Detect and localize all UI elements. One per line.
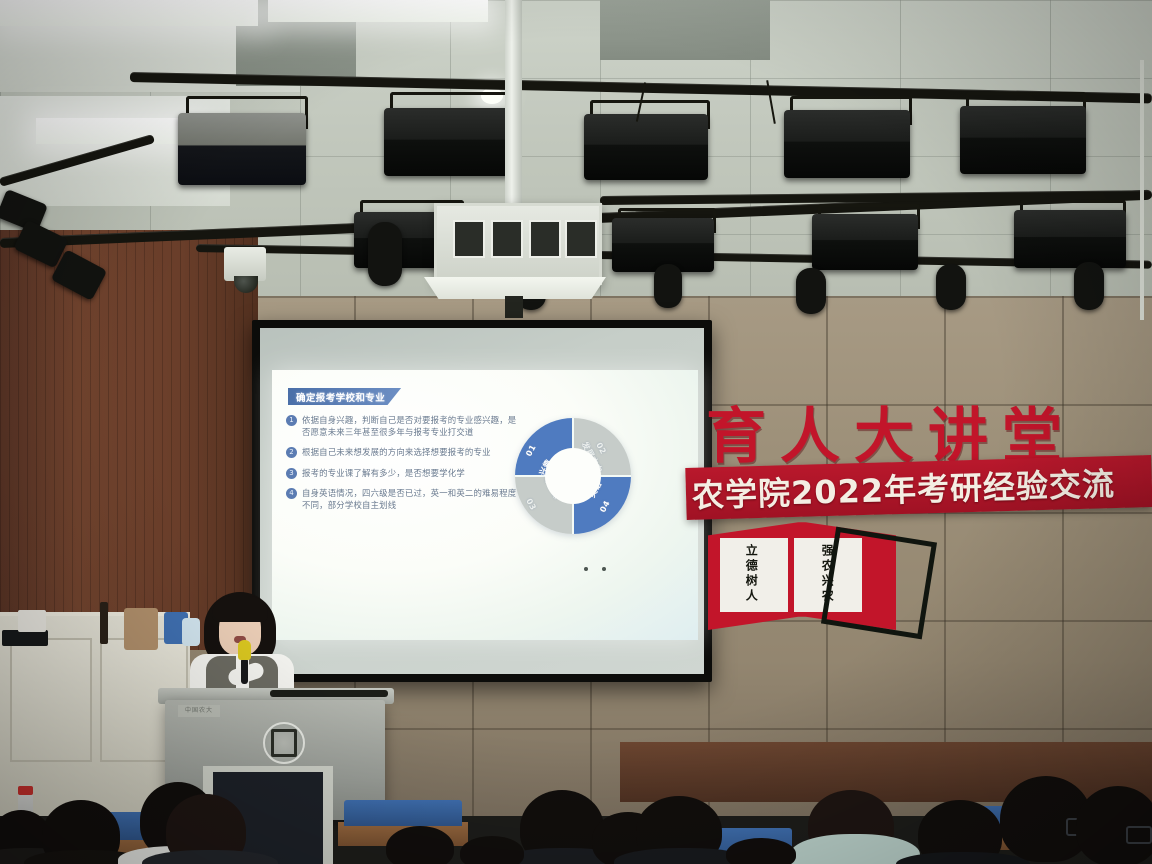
slide-bullet-list: 1 依据自身兴趣，判断自己是否对要报考的专业感兴趣，是否愿意未来三年甚至很多年与…	[286, 414, 518, 519]
slide-title: 确定报考学校和专业	[296, 390, 385, 404]
headline-char: 人	[780, 409, 840, 466]
segment-divider	[573, 475, 631, 477]
ceiling-light-panel	[268, 0, 488, 22]
donut-label-01-number: 01	[524, 443, 538, 458]
segment-divider	[572, 476, 574, 534]
spotlight	[1074, 262, 1104, 310]
audience-glasses-icon	[1126, 826, 1152, 844]
bottle-cap	[18, 786, 33, 795]
spotlight	[368, 222, 402, 286]
cage-vent	[453, 220, 485, 258]
seal-inner-mark	[271, 729, 297, 757]
lecture-hall-photo: 确定报考学校和专业 1 依据自身兴趣，判断自己是否对要报考的专业感兴趣，是否愿意…	[0, 0, 1152, 864]
spotlight	[796, 268, 826, 314]
list-item: 1 依据自身兴趣，判断自己是否对要报考的专业感兴趣，是否愿意未来三年甚至很多年与…	[286, 414, 518, 438]
bullet-number: 2	[286, 447, 297, 458]
book-left-text: 立德树人	[744, 544, 757, 604]
list-item: 2 根据自己未来想发展的方向来选择想要报考的专业	[286, 446, 518, 458]
counter-bag	[124, 608, 158, 650]
cage-vent	[491, 220, 523, 258]
donut-label-04-text: 英语	[587, 479, 605, 499]
podium-laptop-edge	[270, 690, 388, 697]
stage-floodlight	[584, 114, 708, 180]
ceiling-panel-dark	[600, 0, 770, 60]
stage-floodlight	[1014, 210, 1126, 268]
seat-back	[344, 800, 462, 826]
stage-floodlight	[384, 108, 510, 176]
banner-text: 农学院2022年考研经验交流	[685, 459, 1115, 517]
audience-head	[386, 826, 454, 864]
bullet-number: 3	[286, 468, 297, 479]
open-book-decoration: 立德树人 强农兴农	[708, 520, 896, 630]
cage-vent	[529, 220, 561, 258]
bullet-number: 1	[286, 415, 297, 426]
bullet-text: 根据自己未来想发展的方向来选择想要报考的专业	[302, 446, 491, 458]
segment-divider	[572, 418, 574, 476]
slide-marker-dot	[584, 567, 588, 571]
donut-label-03-text: 专业课	[541, 474, 563, 502]
projector-lens-housing	[505, 296, 523, 318]
donut-label-04-number: 04	[598, 499, 612, 514]
slide-title-banner: 确定报考学校和专业	[288, 388, 401, 405]
stage-floodlight	[812, 214, 918, 270]
left-wood-wall-panel	[0, 230, 258, 650]
ceiling-light-panel	[36, 118, 196, 144]
audience-head	[1076, 786, 1152, 864]
audience-head	[726, 838, 796, 864]
podium-nameplate: 中国农大	[178, 705, 220, 717]
microphone-handle	[241, 658, 248, 684]
presentation-slide: 确定报考学校和专业 1 依据自身兴趣，判断自己是否对要报考的专业感兴趣，是否愿意…	[272, 370, 698, 640]
slide-marker-dot	[602, 567, 606, 571]
spotlight	[654, 264, 682, 308]
university-seal-icon	[263, 722, 305, 764]
bullet-number: 4	[286, 488, 297, 499]
list-item: 3 报考的专业课了解有多少，是否想要学化学	[286, 467, 518, 479]
projector-cage	[434, 203, 602, 285]
bullet-text: 依据自身兴趣，判断自己是否对要报考的专业感兴趣，是否愿意未来三年甚至很多年与报考…	[302, 414, 518, 438]
bullet-text: 自身英语情况，四六级是否已过，英一和英二的难易程度不同，部分学校自主划线	[302, 487, 518, 511]
ceiling-support-pole	[1140, 60, 1144, 320]
headline-char: 讲	[928, 409, 988, 466]
microphone-icon	[238, 640, 251, 660]
counter-device	[2, 630, 48, 646]
stage-floodlight	[784, 110, 910, 178]
cage-vent	[565, 220, 597, 258]
headline-char: 大	[854, 409, 914, 466]
projection-screen: 确定报考学校和专业 1 依据自身兴趣，判断自己是否对要报考的专业感兴趣，是否愿意…	[252, 320, 712, 682]
speaker-bangs	[212, 596, 268, 622]
screen-surface: 确定报考学校和专业 1 依据自身兴趣，判断自己是否对要报考的专业感兴趣，是否愿意…	[260, 328, 704, 674]
bullet-text: 报考的专业课了解有多少，是否想要学化学	[302, 467, 465, 479]
wall-headline-characters: 育 人 大 讲 堂	[700, 386, 1152, 466]
book-black-outline	[821, 527, 937, 640]
counter-stand	[100, 602, 108, 644]
donut-chart: 01 兴趣 02 发展方向 03 专业课 04 英语	[515, 418, 631, 534]
counter-tissue-box	[18, 610, 46, 632]
counter-door[interactable]	[10, 638, 92, 762]
stage-floodlight	[960, 106, 1086, 174]
projector-mount-pole	[505, 0, 522, 210]
ceiling-light-panel	[0, 0, 258, 26]
stage-floodlight	[178, 113, 306, 185]
audience-head	[460, 836, 524, 864]
list-item: 4 自身英语情况，四六级是否已过，英一和英二的难易程度不同，部分学校自主划线	[286, 487, 518, 511]
donut-label-03-number: 03	[524, 497, 538, 512]
headline-char: 育	[706, 409, 766, 466]
spotlight	[936, 264, 966, 310]
